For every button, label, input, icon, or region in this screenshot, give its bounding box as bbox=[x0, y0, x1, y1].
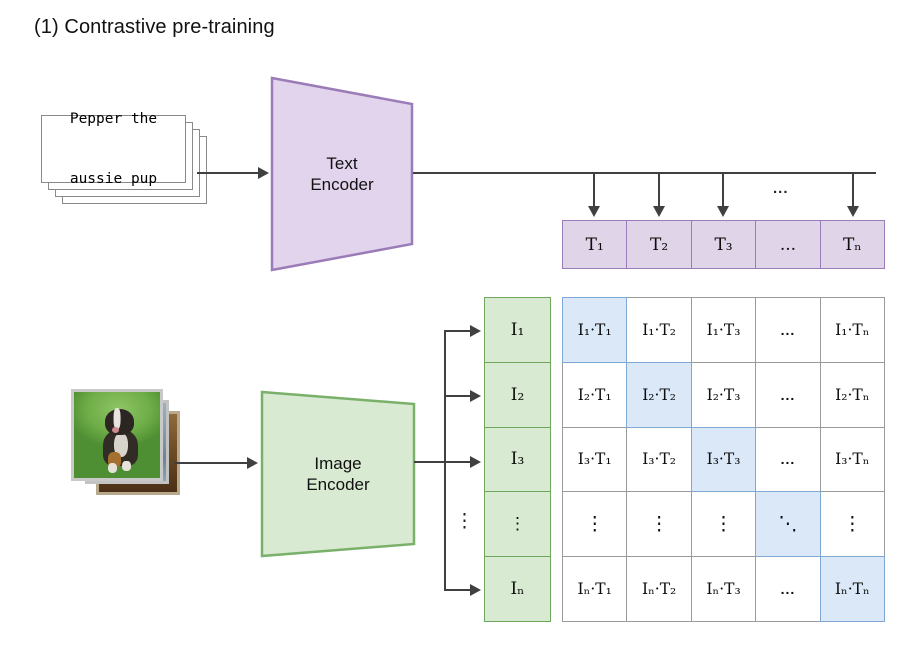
image-encoder-label: Image Encoder bbox=[306, 453, 369, 495]
wire-image-to-encoder bbox=[174, 462, 248, 464]
matrix-cell-r1-c2[interactable]: I₁·T₂ bbox=[626, 297, 691, 363]
matrix-row: ⋮⋮⋮⋱⋮ bbox=[562, 491, 885, 557]
wire-image-branch-3 bbox=[444, 461, 472, 463]
matrix-row: I₃·T₁I₃·T₂I₃·T₃...I₃·Tₙ bbox=[562, 427, 885, 493]
matrix-cell-r1-c5[interactable]: I₁·Tₙ bbox=[820, 297, 885, 363]
page-title: (1) Contrastive pre-training bbox=[34, 16, 275, 39]
arrow-text-drop-3 bbox=[717, 206, 729, 217]
wire-text-drop-n bbox=[852, 172, 854, 208]
wire-text-drop-3 bbox=[722, 172, 724, 208]
matrix-row: Iₙ·T₁Iₙ·T₂Iₙ·T₃...Iₙ·Tₙ bbox=[562, 556, 885, 622]
similarity-matrix: I₁·T₁I₁·T₂I₁·T₃...I₁·TₙI₂·T₁I₂·T₂I₂·T₃..… bbox=[562, 297, 885, 622]
matrix-cell-r4-c4: ⋱ bbox=[755, 491, 820, 557]
matrix-cell-r3-c1[interactable]: I₃·T₁ bbox=[562, 427, 627, 493]
matrix-row: I₂·T₁I₂·T₂I₂·T₃...I₂·Tₙ bbox=[562, 362, 885, 428]
matrix-cell-r3-c3[interactable]: I₃·T₃ bbox=[691, 427, 756, 493]
matrix-cell-r5-c5[interactable]: Iₙ·Tₙ bbox=[820, 556, 885, 622]
image-encoder-block[interactable]: Image Encoder bbox=[258, 388, 418, 560]
matrix-cell-r4-c2: ⋮ bbox=[626, 491, 691, 557]
matrix-cell-r2-c4: ... bbox=[755, 362, 820, 428]
image-encoder-label-line-1: Image bbox=[306, 453, 369, 474]
puppy-tongue-shape bbox=[112, 427, 119, 433]
matrix-cell-r4-c3: ⋮ bbox=[691, 491, 756, 557]
image-embedding-cell-ellipsis: ⋮ bbox=[484, 491, 551, 557]
text-encoder-label: Text Encoder bbox=[310, 153, 373, 195]
wire-text-bus-main bbox=[413, 172, 876, 174]
text-caption-card: Pepper the aussie pup bbox=[41, 115, 186, 183]
image-embedding-cell-3[interactable]: I₃ bbox=[484, 427, 551, 493]
text-encoder-label-line-2: Encoder bbox=[310, 174, 373, 195]
wire-text-drop-2 bbox=[658, 172, 660, 208]
image-embedding-column: I₁ I₂ I₃ ⋮ Iₙ bbox=[484, 297, 551, 622]
wire-image-branch-1 bbox=[444, 330, 472, 332]
text-embedding-cell-3[interactable]: T₃ bbox=[691, 220, 756, 269]
image-embedding-cell-n[interactable]: Iₙ bbox=[484, 556, 551, 622]
image-embedding-cell-1[interactable]: I₁ bbox=[484, 297, 551, 363]
wire-text-to-encoder bbox=[197, 172, 259, 174]
text-bus-ellipsis: ... bbox=[773, 180, 789, 197]
matrix-cell-r5-c1[interactable]: Iₙ·T₁ bbox=[562, 556, 627, 622]
arrow-image-to-encoder bbox=[247, 457, 258, 469]
image-bus-ellipsis: ⋮ bbox=[455, 510, 474, 532]
text-caption-content: Pepper the aussie pup bbox=[70, 69, 157, 229]
arrow-text-drop-n bbox=[847, 206, 859, 217]
text-embedding-cell-ellipsis: ... bbox=[755, 220, 820, 269]
matrix-cell-r3-c5[interactable]: I₃·Tₙ bbox=[820, 427, 885, 493]
matrix-cell-r1-c3[interactable]: I₁·T₃ bbox=[691, 297, 756, 363]
matrix-cell-r5-c4: ... bbox=[755, 556, 820, 622]
text-embedding-cell-n[interactable]: Tₙ bbox=[820, 220, 885, 269]
matrix-cell-r2-c5[interactable]: I₂·Tₙ bbox=[820, 362, 885, 428]
caption-line-1: Pepper the bbox=[70, 109, 157, 129]
matrix-cell-r2-c3[interactable]: I₂·T₃ bbox=[691, 362, 756, 428]
wire-text-drop-1 bbox=[593, 172, 595, 208]
matrix-cell-r4-c5: ⋮ bbox=[820, 491, 885, 557]
text-encoder-block[interactable]: Text Encoder bbox=[268, 74, 416, 274]
image-encoder-label-line-2: Encoder bbox=[306, 474, 369, 495]
text-embedding-cell-1[interactable]: T₁ bbox=[562, 220, 627, 269]
arrow-image-branch-n bbox=[470, 584, 481, 596]
wire-image-branch-2 bbox=[444, 395, 472, 397]
puppy-paw-right-shape bbox=[122, 461, 131, 471]
matrix-row: I₁·T₁I₁·T₂I₁·T₃...I₁·Tₙ bbox=[562, 297, 885, 363]
matrix-cell-r2-c1[interactable]: I₂·T₁ bbox=[562, 362, 627, 428]
matrix-cell-r5-c2[interactable]: Iₙ·T₂ bbox=[626, 556, 691, 622]
figure-canvas: (1) Contrastive pre-training Pepper the … bbox=[0, 0, 906, 654]
matrix-cell-r1-c4: ... bbox=[755, 297, 820, 363]
wire-image-bus-vertical bbox=[444, 330, 446, 590]
matrix-cell-r4-c1: ⋮ bbox=[562, 491, 627, 557]
matrix-cell-r3-c4: ... bbox=[755, 427, 820, 493]
matrix-cell-r2-c2[interactable]: I₂·T₂ bbox=[626, 362, 691, 428]
text-embedding-row: T₁ T₂ T₃ ... Tₙ bbox=[562, 220, 885, 269]
text-encoder-label-line-1: Text bbox=[310, 153, 373, 174]
wire-image-bus-main bbox=[414, 461, 446, 463]
text-embedding-cell-2[interactable]: T₂ bbox=[626, 220, 691, 269]
image-embedding-cell-2[interactable]: I₂ bbox=[484, 362, 551, 428]
matrix-cell-r5-c3[interactable]: Iₙ·T₃ bbox=[691, 556, 756, 622]
caption-line-2: aussie pup bbox=[70, 169, 157, 189]
photo-puppy bbox=[71, 389, 163, 481]
arrow-text-drop-1 bbox=[588, 206, 600, 217]
arrow-image-branch-2 bbox=[470, 390, 481, 402]
matrix-cell-r3-c2[interactable]: I₃·T₂ bbox=[626, 427, 691, 493]
arrow-image-branch-1 bbox=[470, 325, 481, 337]
puppy-paw-left-shape bbox=[108, 463, 117, 473]
puppy-blaze-shape bbox=[114, 408, 121, 429]
arrow-image-branch-3 bbox=[470, 456, 481, 468]
arrow-text-drop-2 bbox=[653, 206, 665, 217]
matrix-cell-r1-c1[interactable]: I₁·T₁ bbox=[562, 297, 627, 363]
wire-image-branch-n bbox=[444, 589, 472, 591]
